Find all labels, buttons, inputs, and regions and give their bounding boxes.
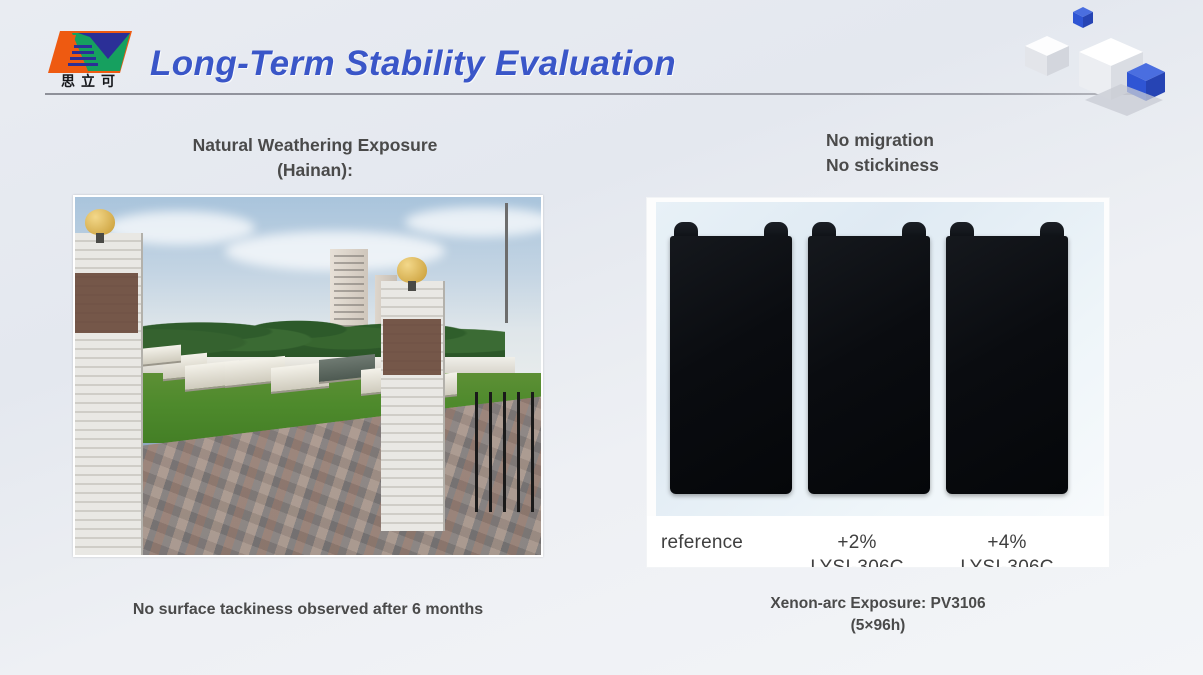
plaque-label-4pct: +4% LYSI-306C xyxy=(937,530,1077,568)
photo-pillar-panel xyxy=(383,319,440,375)
left-heading-line2: (Hainan): xyxy=(277,160,353,180)
test-plaque xyxy=(946,222,1068,494)
photo-lamp-globe xyxy=(85,209,115,235)
test-plaque xyxy=(670,222,792,494)
test-plaques-photo: reference +2% LYSI-306C +4% LYSI-306C xyxy=(646,197,1110,568)
decorative-cubes-icon xyxy=(1013,0,1203,120)
photo-pillar-panel xyxy=(73,273,138,333)
right-caption-line2: (5×96h) xyxy=(851,617,906,634)
plaque-stage xyxy=(656,202,1104,516)
plaque-label-row: reference +2% LYSI-306C +4% LYSI-306C xyxy=(647,516,1110,568)
logo-mark-icon xyxy=(46,29,134,75)
logo-chinese-text: 思立可 xyxy=(48,73,134,91)
plaque-body xyxy=(946,236,1068,494)
photo-utility-pole xyxy=(505,203,508,323)
left-section-heading: Natural Weathering Exposure (Hainan): xyxy=(110,133,520,183)
right-section-note: No migration No stickiness xyxy=(826,128,939,178)
plaque-label-2pct-line2: LYSI-306C xyxy=(810,557,903,568)
plaque-label-2pct: +2% LYSI-306C xyxy=(787,530,927,568)
page-title: Long-Term Stability Evaluation xyxy=(150,44,676,84)
right-note-line2: No stickiness xyxy=(826,155,939,175)
photo-iron-gate xyxy=(475,392,543,512)
right-caption-line1: Xenon-arc Exposure: PV3106 xyxy=(770,595,985,612)
left-heading-line1: Natural Weathering Exposure xyxy=(193,135,438,155)
header-divider xyxy=(45,93,1145,95)
photo-lamp-globe xyxy=(397,257,427,283)
right-caption: Xenon-arc Exposure: PV3106 (5×96h) xyxy=(648,593,1108,637)
photo-cloud xyxy=(405,207,543,237)
plaque-label-4pct-line1: +4% xyxy=(987,532,1026,553)
plaque-label-2pct-line1: +2% xyxy=(837,532,876,553)
plaque-body xyxy=(808,236,930,494)
photo-brick-pillar xyxy=(73,233,143,557)
left-caption: No surface tackiness observed after 6 mo… xyxy=(78,601,538,619)
slide-header: 思立可 Long-Term Stability Evaluation xyxy=(0,0,1203,115)
right-note-line1: No migration xyxy=(826,130,934,150)
company-logo: 思立可 xyxy=(46,29,134,95)
plaque-label-reference: reference xyxy=(661,530,743,555)
plaque-body xyxy=(670,236,792,494)
plaque-label-4pct-line2: LYSI-306C xyxy=(960,557,1053,568)
photo-brick-pillar xyxy=(381,281,445,531)
weathering-site-photo xyxy=(73,195,543,557)
test-plaque xyxy=(808,222,930,494)
